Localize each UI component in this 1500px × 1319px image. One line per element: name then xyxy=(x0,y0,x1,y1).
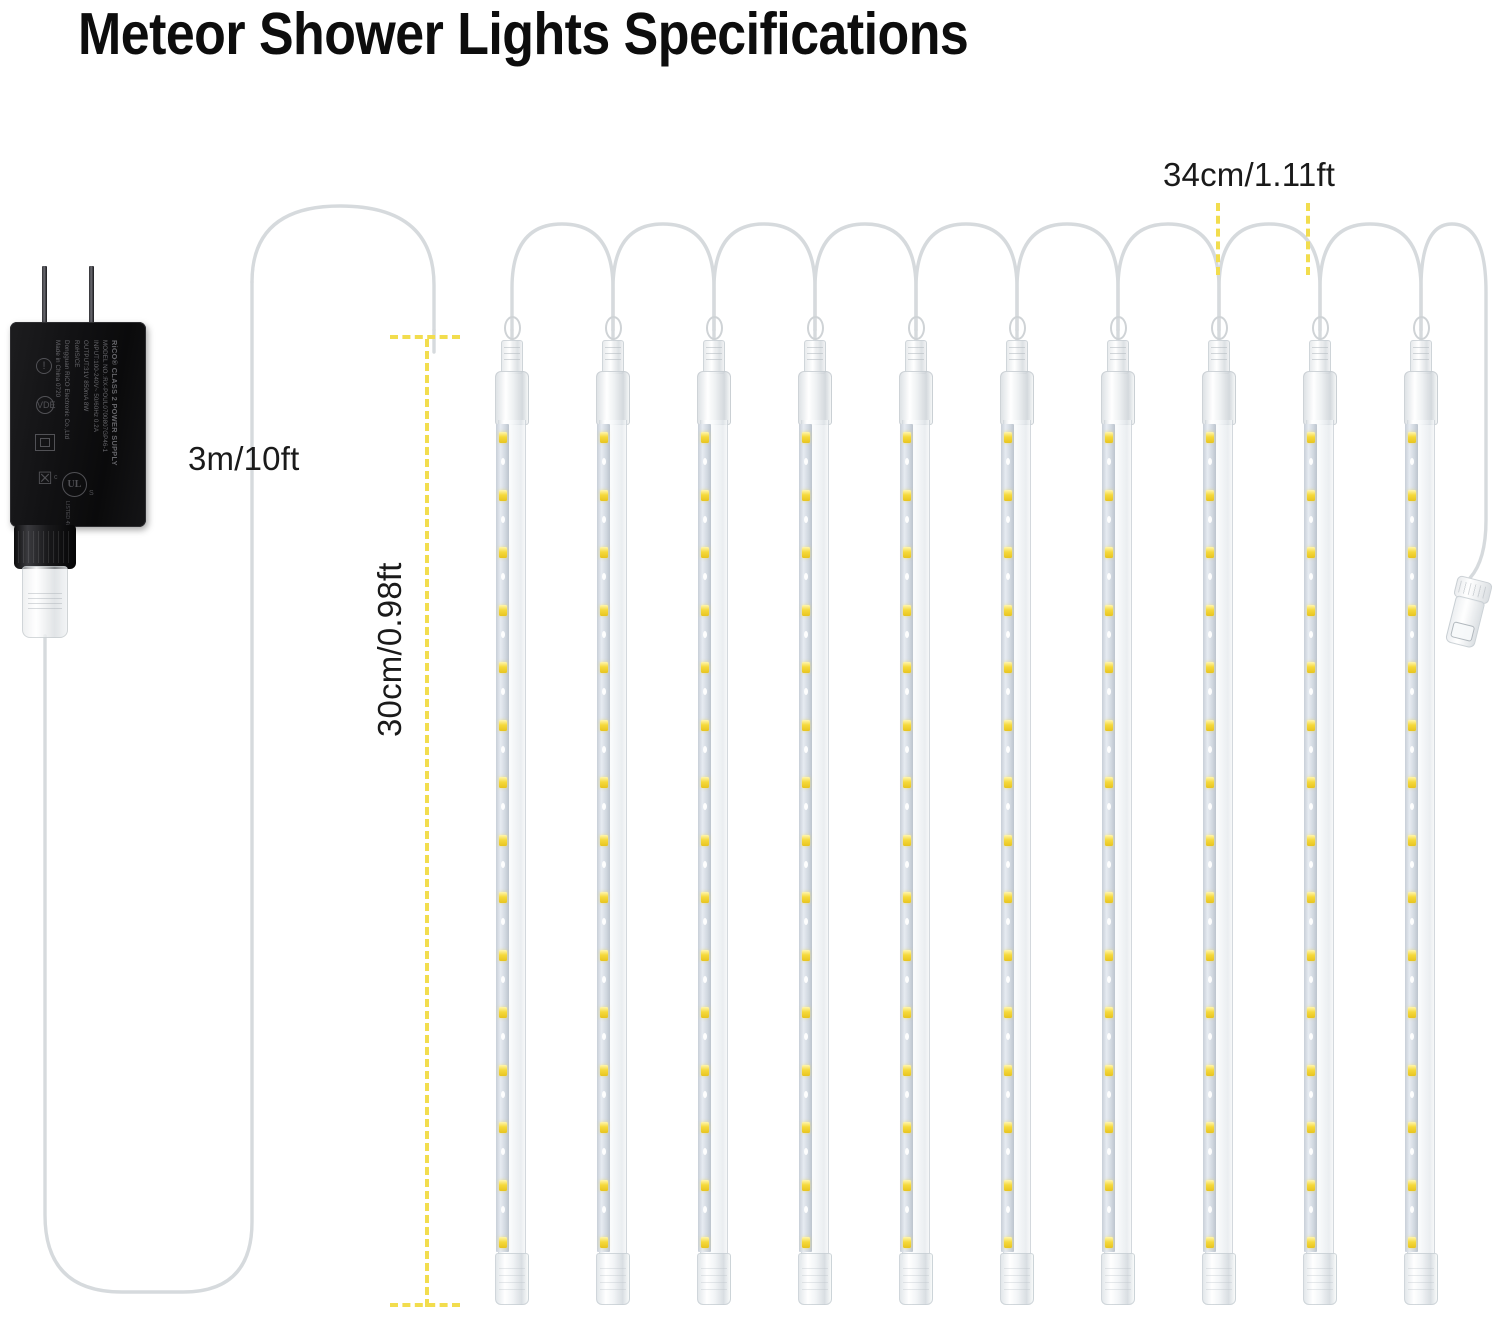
led-resistor xyxy=(804,918,808,925)
tube-cap-neck xyxy=(703,340,725,374)
led-lamp xyxy=(499,720,507,731)
led-resistor xyxy=(905,631,909,638)
vde-certification-icon: VDE xyxy=(36,396,54,414)
led-resistor xyxy=(1410,1033,1414,1040)
led-lamp xyxy=(499,1007,507,1018)
led-resistor xyxy=(1006,1148,1010,1155)
led-lamp xyxy=(903,547,911,558)
dimension-tick-spacing-left xyxy=(1216,203,1220,275)
led-strip xyxy=(1304,424,1317,1252)
led-resistor xyxy=(1208,458,1212,465)
led-resistor xyxy=(804,1206,808,1213)
led-resistor xyxy=(1410,803,1414,810)
connector-body xyxy=(1445,595,1486,649)
led-resistor xyxy=(1006,746,1010,753)
led-lamp xyxy=(1206,950,1214,961)
dimension-tick-tube-length-top xyxy=(390,335,460,339)
led-resistor xyxy=(1208,1206,1212,1213)
led-resistor xyxy=(1107,861,1111,868)
led-resistor xyxy=(501,573,505,580)
led-lamp xyxy=(701,1065,709,1076)
led-lamp xyxy=(802,432,810,443)
led-lamp xyxy=(1105,547,1113,558)
led-resistor xyxy=(1107,803,1111,810)
led-resistor xyxy=(1309,976,1313,983)
led-resistor xyxy=(1309,1206,1313,1213)
led-resistor xyxy=(703,918,707,925)
led-resistor xyxy=(703,1206,707,1213)
led-resistor xyxy=(602,1033,606,1040)
led-resistor xyxy=(1309,803,1313,810)
weee-bin-icon: ☒ xyxy=(34,468,56,490)
led-resistor xyxy=(804,688,808,695)
led-resistor xyxy=(602,516,606,523)
hanging-ring-icon xyxy=(1211,316,1228,340)
warning-icon xyxy=(36,358,52,374)
led-resistor xyxy=(1309,458,1313,465)
led-lamp xyxy=(802,1237,810,1248)
led-resistor xyxy=(1006,861,1010,868)
led-resistor xyxy=(703,516,707,523)
led-resistor xyxy=(1006,1206,1010,1213)
tube-end-cap xyxy=(1101,1253,1135,1305)
led-lamp xyxy=(1105,1065,1113,1076)
led-resistor xyxy=(1107,976,1111,983)
led-resistor xyxy=(1107,918,1111,925)
tube-cap xyxy=(1404,371,1438,425)
led-resistor xyxy=(1410,1148,1414,1155)
led-resistor xyxy=(1410,688,1414,695)
led-resistor xyxy=(1410,746,1414,753)
led-lamp xyxy=(1206,490,1214,501)
led-lamp xyxy=(903,1007,911,1018)
led-lamp xyxy=(701,1180,709,1191)
led-resistor xyxy=(501,688,505,695)
led-lamp xyxy=(1307,1065,1315,1076)
hanging-ring-icon xyxy=(706,316,723,340)
led-resistor xyxy=(1006,688,1010,695)
led-lamp xyxy=(802,892,810,903)
led-resistor xyxy=(1107,516,1111,523)
led-lamp xyxy=(1004,1065,1012,1076)
led-resistor xyxy=(703,803,707,810)
led-lamp xyxy=(903,1065,911,1076)
adapter-label-line-2: INPUT:100-240V~ 50/60Hz 0.2A xyxy=(91,340,101,508)
led-resistor xyxy=(905,1091,909,1098)
led-resistor xyxy=(703,1091,707,1098)
tube-cap xyxy=(596,371,630,425)
led-lamp xyxy=(1004,892,1012,903)
led-resistor xyxy=(1309,1148,1313,1155)
tube-cap-neck xyxy=(804,340,826,374)
tube-cap xyxy=(1303,371,1337,425)
led-lamp xyxy=(1206,547,1214,558)
led-lamp xyxy=(802,1065,810,1076)
led-lamp xyxy=(903,662,911,673)
led-tube-6 xyxy=(993,0,1041,1319)
led-resistor xyxy=(1208,573,1212,580)
led-lamp xyxy=(1307,777,1315,788)
led-resistor xyxy=(1309,1033,1313,1040)
led-lamp xyxy=(903,777,911,788)
hanging-ring-icon xyxy=(605,316,622,340)
tube-end-cap xyxy=(1202,1253,1236,1305)
led-resistor xyxy=(1006,516,1010,523)
led-strip xyxy=(1102,424,1115,1252)
led-resistor xyxy=(501,918,505,925)
led-tube-9 xyxy=(1296,0,1344,1319)
led-lamp xyxy=(802,1122,810,1133)
led-resistor xyxy=(1410,861,1414,868)
led-lamp xyxy=(1408,490,1416,501)
led-resistor xyxy=(1107,746,1111,753)
led-lamp xyxy=(1307,490,1315,501)
led-resistor xyxy=(1208,1091,1212,1098)
tube-cap-neck xyxy=(905,340,927,374)
led-resistor xyxy=(905,803,909,810)
led-resistor xyxy=(1107,1206,1111,1213)
led-resistor xyxy=(602,803,606,810)
led-tube-7 xyxy=(1094,0,1142,1319)
led-resistor xyxy=(1208,631,1212,638)
led-lamp xyxy=(1408,892,1416,903)
led-resistor xyxy=(501,516,505,523)
led-resistor xyxy=(1006,573,1010,580)
led-lamp xyxy=(600,662,608,673)
adapter-output-plug xyxy=(22,566,68,638)
tube-cap-neck xyxy=(602,340,624,374)
led-resistor xyxy=(804,573,808,580)
led-lamp xyxy=(600,835,608,846)
led-resistor xyxy=(905,688,909,695)
led-lamp xyxy=(903,1237,911,1248)
led-resistor xyxy=(501,803,505,810)
tube-end-cap xyxy=(495,1253,529,1305)
led-lamp xyxy=(802,950,810,961)
led-lamp xyxy=(903,1122,911,1133)
ul-s-mark: S xyxy=(89,490,94,497)
led-resistor xyxy=(1107,631,1111,638)
led-resistor xyxy=(1208,861,1212,868)
tube-cap-neck xyxy=(1107,340,1129,374)
led-lamp xyxy=(1307,950,1315,961)
led-resistor xyxy=(804,631,808,638)
led-lamp xyxy=(701,835,709,846)
led-resistor xyxy=(1107,573,1111,580)
led-resistor xyxy=(602,458,606,465)
led-lamp xyxy=(600,1122,608,1133)
ul-listed-icon: UL xyxy=(62,472,87,497)
led-lamp xyxy=(1408,605,1416,616)
led-resistor xyxy=(1006,1091,1010,1098)
led-lamp xyxy=(701,547,709,558)
led-resistor xyxy=(703,746,707,753)
led-resistor xyxy=(905,573,909,580)
led-resistor xyxy=(1410,631,1414,638)
led-resistor xyxy=(1208,803,1212,810)
led-lamp xyxy=(1004,605,1012,616)
led-lamp xyxy=(1004,720,1012,731)
led-lamp xyxy=(1307,1122,1315,1133)
led-lamp xyxy=(903,892,911,903)
led-lamp xyxy=(1408,950,1416,961)
led-lamp xyxy=(1004,1180,1012,1191)
led-resistor xyxy=(1107,1091,1111,1098)
tube-cap xyxy=(899,371,933,425)
led-resistor xyxy=(501,1148,505,1155)
led-resistor xyxy=(703,1033,707,1040)
led-lamp xyxy=(1307,605,1315,616)
led-lamp xyxy=(1307,892,1315,903)
led-lamp xyxy=(499,835,507,846)
led-lamp xyxy=(1105,605,1113,616)
led-lamp xyxy=(499,777,507,788)
tube-end-cap xyxy=(697,1253,731,1305)
led-lamp xyxy=(903,432,911,443)
led-lamp xyxy=(903,605,911,616)
led-lamp xyxy=(802,547,810,558)
dimension-tick-spacing-right xyxy=(1306,203,1310,275)
led-resistor xyxy=(602,1206,606,1213)
led-resistor xyxy=(501,746,505,753)
adapter-label: RiCO® CLASS 2 POWER SUPPLY MODEL NO.:RX-… xyxy=(3,340,119,508)
led-resistor xyxy=(703,631,707,638)
hanging-ring-icon xyxy=(1009,316,1026,340)
tube-cap xyxy=(697,371,731,425)
led-lamp xyxy=(1004,1007,1012,1018)
led-lamp xyxy=(903,835,911,846)
led-resistor xyxy=(905,746,909,753)
led-lamp xyxy=(1105,1007,1113,1018)
led-lamp xyxy=(499,490,507,501)
led-lamp xyxy=(1105,777,1113,788)
led-lamp xyxy=(600,432,608,443)
led-strip xyxy=(496,424,509,1252)
led-resistor xyxy=(602,573,606,580)
led-resistor xyxy=(602,631,606,638)
led-tube-1 xyxy=(488,0,536,1319)
led-lamp xyxy=(1206,1122,1214,1133)
led-resistor xyxy=(905,1206,909,1213)
led-resistor xyxy=(703,1148,707,1155)
led-lamp xyxy=(1408,720,1416,731)
led-lamp xyxy=(1105,662,1113,673)
led-resistor xyxy=(1309,688,1313,695)
led-lamp xyxy=(802,662,810,673)
tube-cap xyxy=(1000,371,1034,425)
led-resistor xyxy=(703,458,707,465)
led-tube-4 xyxy=(791,0,839,1319)
led-strip xyxy=(799,424,812,1252)
led-lamp xyxy=(1206,720,1214,731)
led-resistor xyxy=(602,746,606,753)
led-resistor xyxy=(501,976,505,983)
tube-cap-neck xyxy=(1410,340,1432,374)
adapter-strain-relief xyxy=(14,525,76,569)
led-resistor xyxy=(804,861,808,868)
led-lamp xyxy=(1408,1007,1416,1018)
tube-cap-neck xyxy=(501,340,523,374)
led-lamp xyxy=(1105,1180,1113,1191)
led-lamp xyxy=(1105,1237,1113,1248)
led-lamp xyxy=(1307,835,1315,846)
led-resistor xyxy=(1309,918,1313,925)
led-lamp xyxy=(701,1237,709,1248)
led-lamp xyxy=(1307,432,1315,443)
led-lamp xyxy=(1206,777,1214,788)
led-lamp xyxy=(1307,1007,1315,1018)
led-lamp xyxy=(1307,1180,1315,1191)
dimension-label-tube-length: 30cm/0.98ft xyxy=(371,562,409,737)
power-adapter: RiCO® CLASS 2 POWER SUPPLY MODEL NO.:RX-… xyxy=(10,322,146,527)
dimension-label-tube-spacing: 34cm/1.11ft xyxy=(1163,156,1335,194)
led-lamp xyxy=(802,490,810,501)
plug-prong-right xyxy=(89,266,94,330)
led-resistor xyxy=(804,803,808,810)
led-resistor xyxy=(501,1206,505,1213)
led-resistor xyxy=(602,976,606,983)
tube-cap-neck xyxy=(1006,340,1028,374)
led-lamp xyxy=(701,777,709,788)
led-tube-8 xyxy=(1195,0,1243,1319)
tube-cap-neck xyxy=(1208,340,1230,374)
led-lamp xyxy=(600,1065,608,1076)
led-lamp xyxy=(701,720,709,731)
led-resistor xyxy=(804,976,808,983)
dimension-line-tube-length xyxy=(425,339,429,1307)
led-lamp xyxy=(1206,605,1214,616)
led-lamp xyxy=(1004,490,1012,501)
led-resistor xyxy=(1410,1206,1414,1213)
led-resistor xyxy=(703,861,707,868)
led-resistor xyxy=(1208,976,1212,983)
led-resistor xyxy=(905,861,909,868)
led-lamp xyxy=(903,490,911,501)
led-lamp xyxy=(600,490,608,501)
led-lamp xyxy=(600,720,608,731)
led-lamp xyxy=(701,490,709,501)
led-lamp xyxy=(1408,1122,1416,1133)
led-resistor xyxy=(1309,746,1313,753)
led-lamp xyxy=(701,662,709,673)
led-lamp xyxy=(1408,777,1416,788)
led-lamp xyxy=(600,1237,608,1248)
led-lamp xyxy=(600,1180,608,1191)
led-resistor xyxy=(1208,1033,1212,1040)
led-resistor xyxy=(602,918,606,925)
tube-cap xyxy=(1202,371,1236,425)
led-tube-3 xyxy=(690,0,738,1319)
led-lamp xyxy=(600,892,608,903)
led-resistor xyxy=(501,1033,505,1040)
led-resistor xyxy=(1006,918,1010,925)
led-resistor xyxy=(1006,803,1010,810)
led-lamp xyxy=(1004,835,1012,846)
led-resistor xyxy=(501,458,505,465)
led-lamp xyxy=(1206,1007,1214,1018)
led-resistor xyxy=(1208,746,1212,753)
led-resistor xyxy=(905,976,909,983)
led-lamp xyxy=(1206,432,1214,443)
led-resistor xyxy=(804,1091,808,1098)
led-lamp xyxy=(701,892,709,903)
led-lamp xyxy=(701,432,709,443)
led-lamp xyxy=(701,1122,709,1133)
led-lamp xyxy=(1004,432,1012,443)
led-resistor xyxy=(602,688,606,695)
led-resistor xyxy=(1410,458,1414,465)
led-lamp xyxy=(1004,950,1012,961)
class-2-insulation-icon xyxy=(35,434,55,451)
tube-end-cap xyxy=(1000,1253,1034,1305)
led-lamp xyxy=(499,950,507,961)
led-strip xyxy=(597,424,610,1252)
hanging-ring-icon xyxy=(504,316,521,340)
led-lamp xyxy=(701,1007,709,1018)
tube-end-cap xyxy=(1404,1253,1438,1305)
led-tube-2 xyxy=(589,0,637,1319)
led-lamp xyxy=(1408,835,1416,846)
led-strip xyxy=(900,424,913,1252)
led-strip xyxy=(1203,424,1216,1252)
tube-end-cap xyxy=(798,1253,832,1305)
led-lamp xyxy=(1206,835,1214,846)
led-lamp xyxy=(1408,1065,1416,1076)
led-resistor xyxy=(804,458,808,465)
led-resistor xyxy=(1006,1033,1010,1040)
led-resistor xyxy=(602,1148,606,1155)
led-lamp xyxy=(499,432,507,443)
led-resistor xyxy=(501,861,505,868)
led-lamp xyxy=(1206,1065,1214,1076)
led-lamp xyxy=(1408,662,1416,673)
led-resistor xyxy=(1309,573,1313,580)
led-lamp xyxy=(1004,547,1012,558)
led-strip xyxy=(1405,424,1418,1252)
dimension-label-cable-length: 3m/10ft xyxy=(188,440,299,478)
led-lamp xyxy=(802,1180,810,1191)
led-resistor xyxy=(1107,688,1111,695)
led-lamp xyxy=(499,1065,507,1076)
led-resistor xyxy=(804,1148,808,1155)
led-lamp xyxy=(1307,662,1315,673)
led-lamp xyxy=(1105,432,1113,443)
led-lamp xyxy=(802,835,810,846)
tube-end-cap xyxy=(596,1253,630,1305)
led-resistor xyxy=(501,1091,505,1098)
led-lamp xyxy=(1004,777,1012,788)
led-resistor xyxy=(1107,1033,1111,1040)
led-resistor xyxy=(905,516,909,523)
led-lamp xyxy=(1408,547,1416,558)
hanging-ring-icon xyxy=(1312,316,1329,340)
led-lamp xyxy=(600,547,608,558)
tube-end-cap xyxy=(1303,1253,1337,1305)
led-lamp xyxy=(903,950,911,961)
tube-end-cap xyxy=(899,1253,933,1305)
tube-cap xyxy=(798,371,832,425)
led-resistor xyxy=(1309,516,1313,523)
hanging-ring-icon xyxy=(1413,316,1430,340)
led-lamp xyxy=(1408,432,1416,443)
ul-c-mark: c xyxy=(54,474,58,481)
led-resistor xyxy=(1208,516,1212,523)
led-lamp xyxy=(701,605,709,616)
led-lamp xyxy=(1408,1237,1416,1248)
led-lamp xyxy=(1105,950,1113,961)
led-lamp xyxy=(1408,1180,1416,1191)
led-lamp xyxy=(1004,1122,1012,1133)
